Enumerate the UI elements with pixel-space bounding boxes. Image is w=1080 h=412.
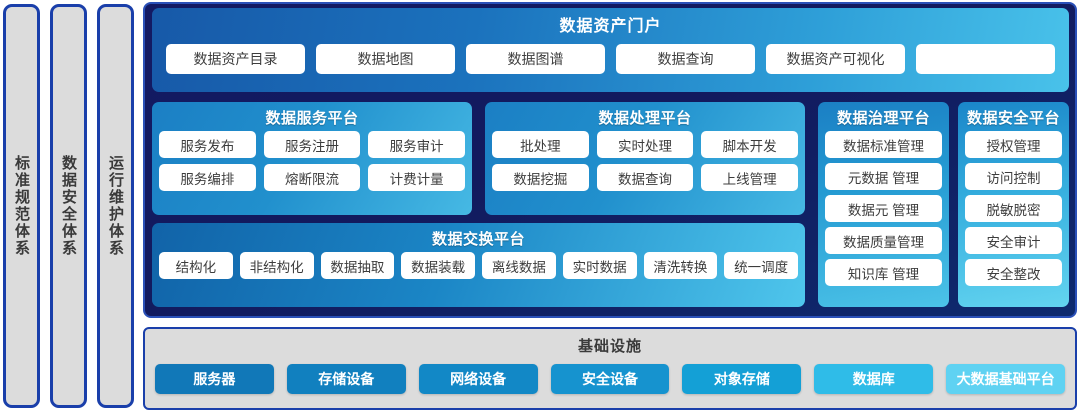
governance-item-data-element-management[interactable]: 数据元 管理	[825, 195, 942, 222]
processing-item-script-development[interactable]: 脚本开发	[701, 131, 798, 158]
portal-item-data-graph[interactable]: 数据图谱	[466, 44, 605, 74]
infra-item-bigdata-platform[interactable]: 大数据基础平台	[946, 364, 1065, 394]
data-exchange-platform: 数据交换平台 结构化 非结构化 数据抽取 数据装载 离线数据 实时数据 清洗转换…	[152, 223, 805, 307]
exchange-item-cleansing-transform[interactable]: 清洗转换	[644, 252, 718, 279]
service-item-register[interactable]: 服务注册	[264, 131, 361, 158]
service-item-circuit-breaker[interactable]: 熔断限流	[264, 164, 361, 191]
infrastructure-title: 基础设施	[155, 333, 1065, 361]
infra-item-object-storage[interactable]: 对象存储	[682, 364, 801, 394]
service-platform-items: 服务发布 服务注册 服务审计 服务编排 熔断限流 计费计量	[159, 131, 465, 191]
architecture-diagram: 标准规范体系 数据安全体系 运行维护体系 数据资产门户 数据资产目录 数据地图 …	[0, 0, 1080, 412]
governance-platform-title: 数据治理平台	[825, 106, 942, 131]
portal-item-list: 数据资产目录 数据地图 数据图谱 数据查询 数据资产可视化	[160, 44, 1061, 74]
processing-item-release-management[interactable]: 上线管理	[701, 164, 798, 191]
pillar-standard-spec-system: 标准规范体系	[3, 4, 40, 408]
pillar-label: 标准规范体系	[14, 155, 29, 257]
service-item-billing-metering[interactable]: 计费计量	[368, 164, 465, 191]
infra-item-server[interactable]: 服务器	[155, 364, 274, 394]
portal-item-data-asset-visualization[interactable]: 数据资产可视化	[766, 44, 905, 74]
platform-row: 数据服务平台 服务发布 服务注册 服务审计 服务编排 熔断限流 计费计量 数据处…	[152, 100, 1069, 309]
portal-item-empty[interactable]	[916, 44, 1055, 74]
exchange-item-structured[interactable]: 结构化	[159, 252, 233, 279]
exchange-item-data-extraction[interactable]: 数据抽取	[321, 252, 395, 279]
governance-platform-items: 数据标准管理 元数据 管理 数据元 管理 数据质量管理 知识库 管理	[825, 131, 942, 286]
security-item-desensitization[interactable]: 脱敏脱密	[965, 195, 1062, 222]
infra-item-storage-device[interactable]: 存储设备	[287, 364, 406, 394]
security-item-authorization-management[interactable]: 授权管理	[965, 131, 1062, 158]
processing-item-data-query[interactable]: 数据查询	[597, 164, 694, 191]
security-platform-items: 授权管理 访问控制 脱敏脱密 安全审计 安全整改	[965, 131, 1062, 286]
exchange-item-unstructured[interactable]: 非结构化	[240, 252, 314, 279]
data-processing-platform: 数据处理平台 批处理 实时处理 脚本开发 数据挖掘 数据查询 上线管理	[485, 102, 805, 215]
pillar-label: 运行维护体系	[108, 155, 123, 257]
pillar-label: 数据安全体系	[61, 155, 76, 257]
data-asset-portal-section: 数据资产门户 数据资产目录 数据地图 数据图谱 数据查询 数据资产可视化	[152, 8, 1069, 92]
exchange-item-offline-data[interactable]: 离线数据	[482, 252, 556, 279]
infra-item-database[interactable]: 数据库	[814, 364, 933, 394]
portal-item-data-query[interactable]: 数据查询	[616, 44, 755, 74]
service-item-orchestration[interactable]: 服务编排	[159, 164, 256, 191]
exchange-item-unified-scheduling[interactable]: 统一调度	[724, 252, 798, 279]
infra-item-network-device[interactable]: 网络设备	[419, 364, 538, 394]
service-platform-title: 数据服务平台	[159, 106, 465, 131]
portal-item-data-map[interactable]: 数据地图	[316, 44, 455, 74]
security-platform-title: 数据安全平台	[965, 106, 1062, 131]
security-item-security-rectification[interactable]: 安全整改	[965, 259, 1062, 286]
processing-platform-title: 数据处理平台	[492, 106, 798, 131]
security-item-security-audit[interactable]: 安全审计	[965, 227, 1062, 254]
processing-item-data-mining[interactable]: 数据挖掘	[492, 164, 589, 191]
governance-item-knowledge-base-management[interactable]: 知识库 管理	[825, 259, 942, 286]
data-governance-platform: 数据治理平台 数据标准管理 元数据 管理 数据元 管理 数据质量管理 知识库 管…	[818, 102, 949, 307]
service-item-publish[interactable]: 服务发布	[159, 131, 256, 158]
processing-platform-items: 批处理 实时处理 脚本开发 数据挖掘 数据查询 上线管理	[492, 131, 798, 191]
processing-item-batch[interactable]: 批处理	[492, 131, 589, 158]
security-item-access-control[interactable]: 访问控制	[965, 163, 1062, 190]
infra-item-security-device[interactable]: 安全设备	[551, 364, 670, 394]
data-security-platform: 数据安全平台 授权管理 访问控制 脱敏脱密 安全审计 安全整改	[958, 102, 1069, 307]
exchange-item-realtime-data[interactable]: 实时数据	[563, 252, 637, 279]
pillar-data-security-system: 数据安全体系	[50, 4, 87, 408]
portal-title: 数据资产门户	[160, 14, 1061, 40]
portal-item-data-asset-catalog[interactable]: 数据资产目录	[166, 44, 305, 74]
pillar-operation-maintenance-system: 运行维护体系	[97, 4, 134, 408]
governance-item-data-standard-management[interactable]: 数据标准管理	[825, 131, 942, 158]
service-item-audit[interactable]: 服务审计	[368, 131, 465, 158]
infrastructure-section: 基础设施 服务器 存储设备 网络设备 安全设备 对象存储 数据库 大数据基础平台	[143, 327, 1077, 410]
exchange-platform-items: 结构化 非结构化 数据抽取 数据装载 离线数据 实时数据 清洗转换 统一调度	[159, 252, 798, 279]
exchange-platform-title: 数据交换平台	[159, 227, 798, 252]
governance-item-data-quality-management[interactable]: 数据质量管理	[825, 227, 942, 254]
infrastructure-item-list: 服务器 存储设备 网络设备 安全设备 对象存储 数据库 大数据基础平台	[155, 364, 1065, 394]
data-service-platform: 数据服务平台 服务发布 服务注册 服务审计 服务编排 熔断限流 计费计量	[152, 102, 472, 215]
exchange-item-data-loading[interactable]: 数据装载	[401, 252, 475, 279]
governance-item-metadata-management[interactable]: 元数据 管理	[825, 163, 942, 190]
processing-item-realtime[interactable]: 实时处理	[597, 131, 694, 158]
